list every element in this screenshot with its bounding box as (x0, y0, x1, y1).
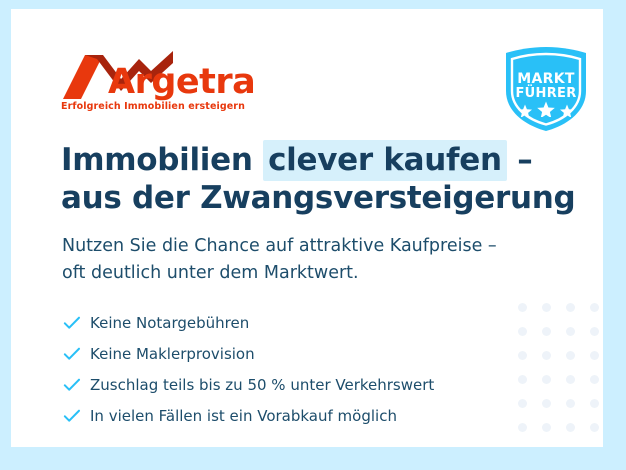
benefits-checklist: Keine Notargebühren Keine Maklerprovisio… (63, 307, 513, 431)
headline-text-after: – (507, 142, 533, 178)
grid-dot (590, 351, 599, 360)
grid-dot (518, 351, 527, 360)
grid-dot (566, 399, 575, 408)
check-icon (63, 347, 90, 361)
headline-highlight: clever kaufen (263, 140, 507, 181)
grid-dot (518, 399, 527, 408)
check-icon (63, 378, 90, 392)
marktfuehrer-badge: MARKT FÜHRER (500, 45, 592, 133)
grid-dot (542, 303, 551, 312)
dot-grid-pattern (518, 303, 603, 447)
list-item: In vielen Fällen ist ein Vorabkauf mögli… (63, 400, 513, 431)
grid-dot (542, 399, 551, 408)
grid-dot (590, 375, 599, 384)
list-item-label: In vielen Fällen ist ein Vorabkauf mögli… (90, 407, 397, 425)
logo-wordmark: Argetra (108, 65, 255, 100)
grid-dot (518, 327, 527, 336)
badge-line-2: FÜHRER (500, 86, 592, 101)
check-icon (63, 409, 90, 423)
grid-dot (566, 351, 575, 360)
badge-line-1: MARKT (500, 71, 592, 87)
subheadline-line-2: oft deutlich unter dem Marktwert. (62, 260, 542, 287)
headline: Immobilien clever kaufen – aus der Zwang… (61, 141, 531, 217)
list-item: Keine Maklerprovision (63, 338, 513, 369)
grid-dot (518, 375, 527, 384)
badge-stars (500, 101, 592, 121)
banner-card: Argetra Erfolgreich Immobilien ersteiger… (11, 9, 603, 447)
grid-dot (518, 303, 527, 312)
list-item: Zuschlag teils bis zu 50 % unter Verkehr… (63, 369, 513, 400)
grid-dot (590, 327, 599, 336)
grid-dot (542, 423, 551, 432)
check-icon (63, 316, 90, 330)
list-item-label: Zuschlag teils bis zu 50 % unter Verkehr… (90, 376, 434, 394)
headline-line-1: Immobilien clever kaufen – (61, 141, 531, 179)
subheadline: Nutzen Sie die Chance auf attraktive Kau… (62, 233, 542, 287)
grid-dot (590, 423, 599, 432)
logo-tagline: Erfolgreich Immobilien ersteigern (61, 101, 245, 112)
grid-dot (590, 399, 599, 408)
list-item-label: Keine Maklerprovision (90, 345, 255, 363)
grid-dot (542, 375, 551, 384)
list-item: Keine Notargebühren (63, 307, 513, 338)
grid-dot (566, 327, 575, 336)
headline-line-2: aus der Zwangsversteigerung (61, 179, 531, 217)
promo-banner: Argetra Erfolgreich Immobilien ersteiger… (0, 0, 626, 470)
grid-dot (542, 327, 551, 336)
subheadline-line-1: Nutzen Sie die Chance auf attraktive Kau… (62, 233, 542, 260)
list-item-label: Keine Notargebühren (90, 314, 249, 332)
grid-dot (518, 423, 527, 432)
grid-dot (566, 375, 575, 384)
grid-dot (590, 303, 599, 312)
grid-dot (542, 351, 551, 360)
three-stars-icon (515, 101, 577, 117)
argetra-logo[interactable]: Argetra Erfolgreich Immobilien ersteiger… (59, 49, 259, 119)
grid-dot (566, 423, 575, 432)
headline-text-before: Immobilien (61, 142, 263, 178)
grid-dot (566, 303, 575, 312)
